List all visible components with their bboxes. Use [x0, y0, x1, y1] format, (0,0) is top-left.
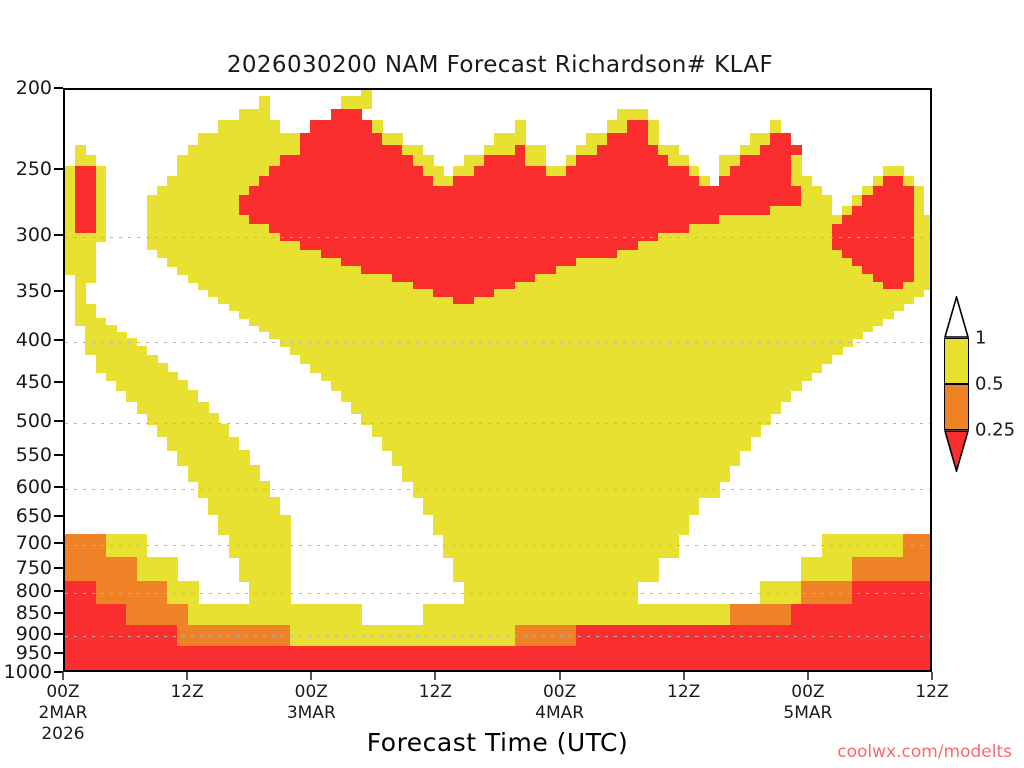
- watermark: coolwx.com/modelts: [837, 742, 1012, 762]
- x-tick: [434, 672, 436, 680]
- y-tick-label: 650: [16, 505, 52, 527]
- x-tick: [683, 672, 685, 680]
- ground-band: [65, 90, 930, 670]
- y-tick-label: 250: [16, 158, 52, 180]
- x-tick-label: 12Z: [419, 682, 452, 703]
- x-tick: [931, 672, 933, 680]
- x-tick: [559, 672, 561, 680]
- y-tick: [54, 590, 63, 592]
- y-tick: [54, 633, 63, 635]
- x-tick-label: 12Z: [667, 682, 700, 703]
- y-tick: [54, 339, 63, 341]
- y-tick: [54, 542, 63, 544]
- y-tick-label: 800: [16, 580, 52, 602]
- y-axis: 2002503003504004505005506006507007508008…: [0, 88, 63, 672]
- colorbar-label: 0.5: [975, 374, 1004, 395]
- x-tick-label: 00Z3MAR: [287, 682, 336, 724]
- colorbar-arrow-up: [944, 296, 969, 338]
- colorbar-arrow-down: [944, 430, 969, 472]
- x-axis-title: Forecast Time (UTC): [63, 728, 932, 757]
- chart-root: 2026030200 NAM Forecast Richardson# KLAF…: [0, 0, 1024, 768]
- y-tick: [54, 486, 63, 488]
- y-tick: [54, 290, 63, 292]
- x-tick: [807, 672, 809, 680]
- colorbar-segment-orange: [944, 384, 969, 430]
- y-tick-label: 350: [16, 280, 52, 302]
- y-tick-label: 600: [16, 476, 52, 498]
- plot-area: [63, 88, 932, 672]
- y-tick-label: 200: [16, 77, 52, 99]
- y-tick-label: 700: [16, 532, 52, 554]
- x-tick-label: 00Z4MAR: [535, 682, 584, 724]
- x-tick: [310, 672, 312, 680]
- colorbar-label: 0.25: [975, 420, 1015, 441]
- y-tick: [54, 612, 63, 614]
- x-tick: [186, 672, 188, 680]
- y-tick-label: 500: [16, 410, 52, 432]
- y-tick: [54, 567, 63, 569]
- y-tick: [54, 515, 63, 517]
- y-tick-label: 300: [16, 224, 52, 246]
- y-tick: [54, 87, 63, 89]
- y-tick: [54, 454, 63, 456]
- y-tick-label: 450: [16, 371, 52, 393]
- y-tick-label: 750: [16, 557, 52, 579]
- colorbar-legend: 10.50.25: [944, 296, 1024, 486]
- x-tick-label: 12Z: [170, 682, 203, 703]
- x-tick-label: 12Z: [915, 682, 948, 703]
- x-tick: [62, 672, 64, 680]
- y-tick-label: 400: [16, 329, 52, 351]
- colorbar-segment-yellow: [944, 338, 969, 384]
- colorbar-label: 1: [975, 328, 986, 349]
- y-tick: [54, 420, 63, 422]
- x-tick-label: 00Z5MAR: [783, 682, 832, 724]
- page-title: 2026030200 NAM Forecast Richardson# KLAF: [0, 52, 1000, 78]
- y-tick-label: 550: [16, 444, 52, 466]
- y-tick-label: 850: [16, 602, 52, 624]
- y-tick: [54, 381, 63, 383]
- y-tick: [54, 234, 63, 236]
- y-tick: [54, 652, 63, 654]
- y-tick-label: 1000: [4, 661, 52, 683]
- y-tick: [54, 168, 63, 170]
